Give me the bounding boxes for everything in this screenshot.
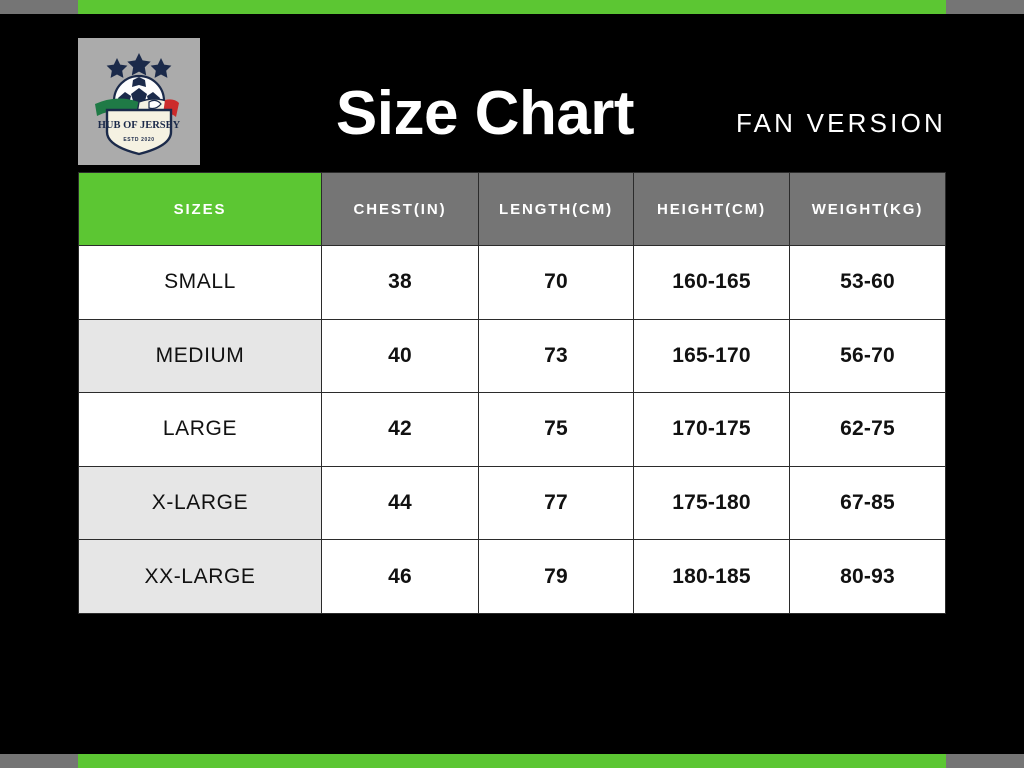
column-header-chest: CHEST(IN)	[322, 173, 479, 246]
bottom-strip-green	[78, 754, 946, 768]
top-accent-strip	[0, 0, 1024, 14]
cell-weight: 62-75	[790, 393, 946, 467]
column-header-sizes: SIZES	[79, 173, 322, 246]
cell-weight: 56-70	[790, 319, 946, 393]
cell-chest: 38	[322, 246, 479, 320]
cell-chest: 46	[322, 540, 479, 614]
bottom-accent-strip	[0, 754, 1024, 768]
cell-size: X-LARGE	[79, 466, 322, 540]
column-header-weight: WEIGHT(KG)	[790, 173, 946, 246]
cell-weight: 80-93	[790, 540, 946, 614]
top-strip-gray-left	[0, 0, 78, 14]
column-header-length: LENGTH(CM)	[479, 173, 634, 246]
logo-brand-text: HUB OF JERSEY	[98, 120, 181, 131]
top-strip-gray-right	[946, 0, 1024, 14]
cell-length: 75	[479, 393, 634, 467]
table-header: SIZES CHEST(IN) LENGTH(CM) HEIGHT(CM) WE…	[79, 173, 946, 246]
cell-height: 170-175	[634, 393, 790, 467]
column-header-height: HEIGHT(CM)	[634, 173, 790, 246]
logo-established-text: ESTD 2020	[123, 137, 154, 143]
table-header-row: SIZES CHEST(IN) LENGTH(CM) HEIGHT(CM) WE…	[79, 173, 946, 246]
cell-height: 175-180	[634, 466, 790, 540]
bottom-strip-gray-left	[0, 754, 78, 768]
table-row: X-LARGE 44 77 175-180 67-85	[79, 466, 946, 540]
cell-height: 180-185	[634, 540, 790, 614]
table-row: SMALL 38 70 160-165 53-60	[79, 246, 946, 320]
cell-chest: 40	[322, 319, 479, 393]
cell-size: LARGE	[79, 393, 322, 467]
size-chart-table: SIZES CHEST(IN) LENGTH(CM) HEIGHT(CM) WE…	[78, 172, 946, 614]
bottom-strip-gray-right	[946, 754, 1024, 768]
cell-size: MEDIUM	[79, 319, 322, 393]
table-row: XX-LARGE 46 79 180-185 80-93	[79, 540, 946, 614]
cell-length: 77	[479, 466, 634, 540]
brand-logo: HUB OF JERSEY ESTD 2020	[78, 38, 200, 165]
cell-size: SMALL	[79, 246, 322, 320]
top-strip-green	[78, 0, 946, 14]
size-chart-poster: HUB OF JERSEY ESTD 2020 Size Chart FAN V…	[0, 0, 1024, 768]
cell-length: 73	[479, 319, 634, 393]
cell-size: XX-LARGE	[79, 540, 322, 614]
cell-weight: 67-85	[790, 466, 946, 540]
table-row: LARGE 42 75 170-175 62-75	[79, 393, 946, 467]
version-label: FAN VERSION	[736, 108, 946, 139]
cell-length: 79	[479, 540, 634, 614]
table-row: MEDIUM 40 73 165-170 56-70	[79, 319, 946, 393]
table-body: SMALL 38 70 160-165 53-60 MEDIUM 40 73 1…	[79, 246, 946, 614]
cell-chest: 44	[322, 466, 479, 540]
cell-length: 70	[479, 246, 634, 320]
cell-weight: 53-60	[790, 246, 946, 320]
page-title: Size Chart	[300, 72, 670, 156]
soccer-club-crest-logo-icon: HUB OF JERSEY ESTD 2020	[87, 46, 191, 158]
cell-height: 160-165	[634, 246, 790, 320]
cell-height: 165-170	[634, 319, 790, 393]
cell-chest: 42	[322, 393, 479, 467]
